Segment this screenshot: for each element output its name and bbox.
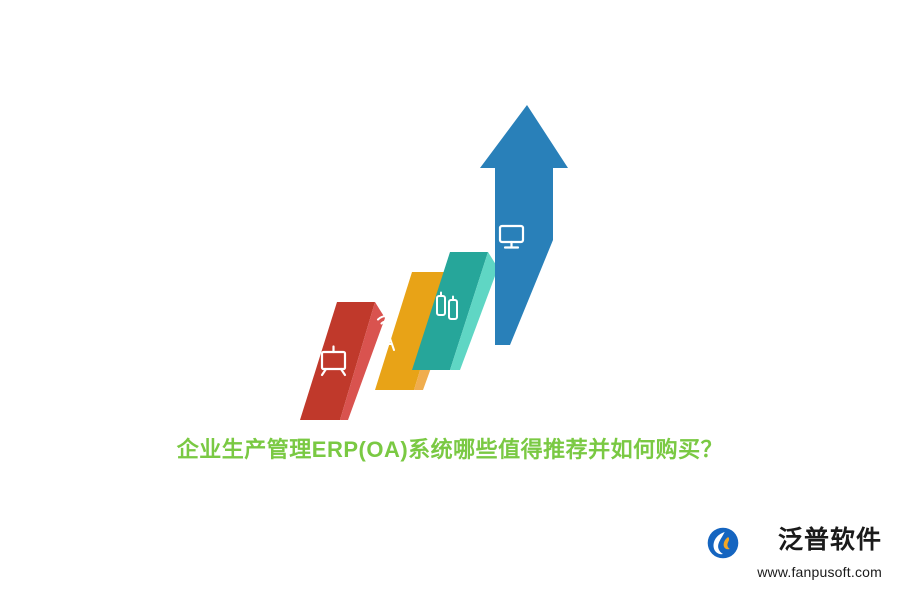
brand-name: 泛普软件 bbox=[742, 520, 882, 556]
poster-canvas: 企业生产管理ERP(OA)系统哪些值得推荐并如何购买？ 泛普软件 www.fan… bbox=[0, 0, 900, 600]
brand-logo-mark bbox=[706, 526, 740, 560]
page-title: 企业生产管理ERP(OA)系统哪些值得推荐并如何购买？ bbox=[0, 432, 900, 464]
brand-url: www.fanpusoft.com bbox=[706, 564, 882, 580]
step-red bbox=[300, 302, 385, 420]
rising-arrow-step-graphic bbox=[0, 0, 900, 600]
